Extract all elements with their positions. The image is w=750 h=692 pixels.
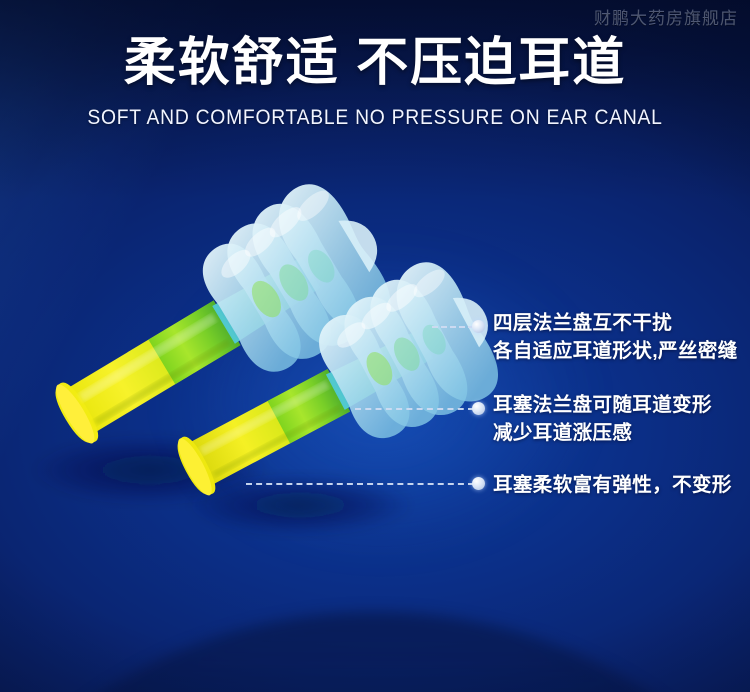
callout-2-line-1: 耳塞法兰盘可随耳道变形 xyxy=(493,392,712,419)
callout-2-dot xyxy=(472,402,485,415)
callout-1-leader-line xyxy=(432,326,474,328)
header-block: 柔软舒适 不压迫耳道 SOFT AND COMFORTABLE NO PRESS… xyxy=(0,36,750,130)
callout-1-line-1: 四层法兰盘互不干扰 xyxy=(493,310,672,337)
callout-2-line-2: 减少耳道涨压感 xyxy=(493,420,632,447)
product-feature-banner: 财鹏大药房旗舰店 柔软舒适 不压迫耳道 SOFT AND COMFORTABLE… xyxy=(0,0,750,692)
callout-1-dot xyxy=(472,320,485,333)
callout-3-dot xyxy=(472,477,485,490)
callout-3-line-1: 耳塞柔软富有弹性，不变形 xyxy=(493,472,732,499)
callout-2-leader-line xyxy=(355,408,474,410)
page-title: 柔软舒适 不压迫耳道 xyxy=(0,36,750,91)
callout-1-line-2: 各自适应耳道形状,严丝密缝 xyxy=(493,338,738,365)
page-subtitle: SOFT AND COMFORTABLE NO PRESSURE ON EAR … xyxy=(30,106,720,130)
shop-watermark: 财鹏大药房旗舰店 xyxy=(0,4,738,29)
callout-3-leader-line xyxy=(246,483,474,485)
